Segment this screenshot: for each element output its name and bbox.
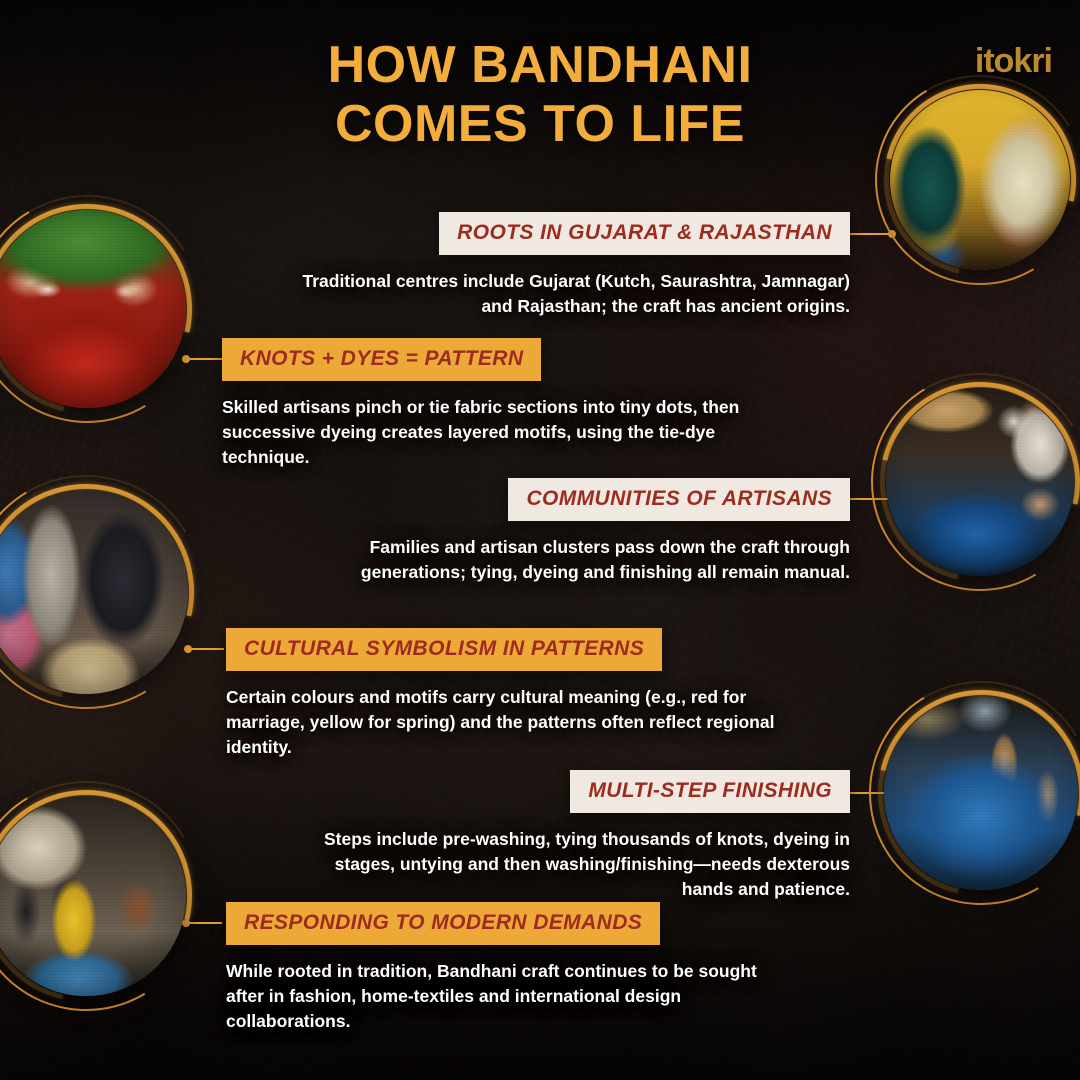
section-body-6: While rooted in tradition, Bandhani craf…: [226, 959, 786, 1034]
connector-line-1: [846, 233, 892, 235]
section-heading-5: MULTI-STEP FINISHING: [570, 770, 850, 813]
section-body-5: Steps include pre-washing, tying thousan…: [300, 827, 850, 902]
connector-line-3: [188, 648, 224, 650]
infographic-poster: HOW BANDHANI COMES TO LIFE itokri ROOTS …: [0, 0, 1080, 1080]
brand-logo-text: itokri: [944, 40, 1052, 82]
photo-dyer-at-blue-vat: [886, 388, 1074, 576]
section-body-1: Traditional centres include Gujarat (Kut…: [300, 269, 850, 319]
section-heading-1: ROOTS IN GUJARAT & RAJASTHAN: [439, 212, 850, 255]
section-cultural-symbolism-in-patterns: CULTURAL SYMBOLISM IN PATTERNS Certain c…: [226, 628, 786, 760]
photo-mallet-in-blue-dye: [884, 696, 1078, 890]
photo-hands-tying-red-fabric: [0, 210, 186, 408]
photo-women-knotting-doorway: [0, 490, 188, 694]
section-heading-6: RESPONDING TO MODERN DEMANDS: [226, 902, 660, 945]
brand-logo[interactable]: itokri: [944, 40, 1052, 82]
connector-line-6: [186, 922, 222, 924]
section-heading-3: COMMUNITIES OF ARTISANS: [508, 478, 850, 521]
section-communities-of-artisans: COMMUNITIES OF ARTISANS Families and art…: [260, 478, 850, 585]
section-knots-dyes-pattern: KNOTS + DYES = PATTERN Skilled artisans …: [222, 338, 782, 470]
section-heading-2: KNOTS + DYES = PATTERN: [222, 338, 541, 381]
section-roots-in-gujarat-rajasthan: ROOTS IN GUJARAT & RAJASTHAN Traditional…: [300, 212, 850, 319]
section-body-2: Skilled artisans pinch or tie fabric sec…: [222, 395, 782, 470]
section-body-4: Certain colours and motifs carry cultura…: [226, 685, 786, 760]
section-multi-step-finishing: MULTI-STEP FINISHING Steps include pre-w…: [300, 770, 850, 902]
section-heading-4: CULTURAL SYMBOLISM IN PATTERNS: [226, 628, 662, 671]
connector-line-2: [186, 358, 222, 360]
photo-man-lifting-yellow-cloth: [0, 796, 186, 996]
photo-women-tying-yellow-room: [890, 90, 1070, 270]
section-responding-to-modern-demands: RESPONDING TO MODERN DEMANDS While roote…: [226, 902, 786, 1034]
section-body-3: Families and artisan clusters pass down …: [260, 535, 850, 585]
